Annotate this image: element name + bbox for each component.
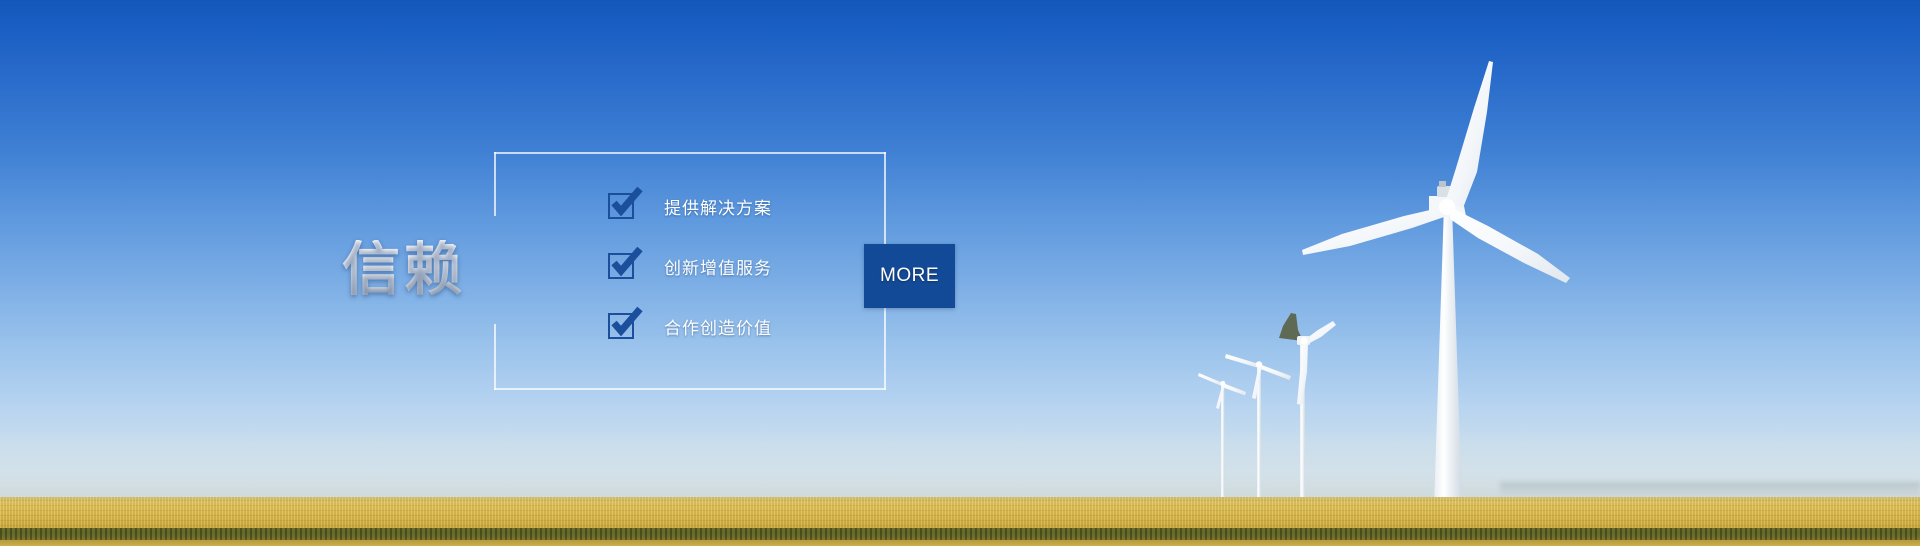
feature-list: 提供解决方案 创新增值服务 合作创造价值 — [608, 190, 838, 342]
feature-item-3[interactable]: 合作创造价值 — [608, 310, 838, 342]
headline-text: 信赖 — [342, 240, 466, 298]
feature-label: 提供解决方案 — [664, 194, 772, 219]
feature-label: 合作创造价值 — [664, 314, 772, 339]
wind-turbine-medium — [1279, 313, 1336, 506]
feature-item-2[interactable]: 创新增值服务 — [608, 250, 838, 282]
wind-turbine-small-mid — [1225, 354, 1291, 505]
wind-turbine-group — [0, 0, 1920, 550]
checkbox-checked-icon[interactable] — [608, 193, 634, 219]
feature-item-1[interactable]: 提供解决方案 — [608, 190, 838, 222]
wind-turbine-small-far — [1198, 373, 1246, 504]
field-texture — [0, 500, 1920, 530]
hero-banner: 信赖 提供解决方案 创新增值服务 合作创造 — [0, 0, 1920, 550]
wind-turbine-main — [1302, 61, 1570, 510]
checkbox-checked-icon[interactable] — [608, 253, 634, 279]
more-button[interactable]: MORE — [864, 244, 955, 308]
bottom-edge — [0, 546, 1920, 550]
feature-label: 创新增值服务 — [664, 254, 772, 279]
checkbox-checked-icon[interactable] — [608, 313, 634, 339]
